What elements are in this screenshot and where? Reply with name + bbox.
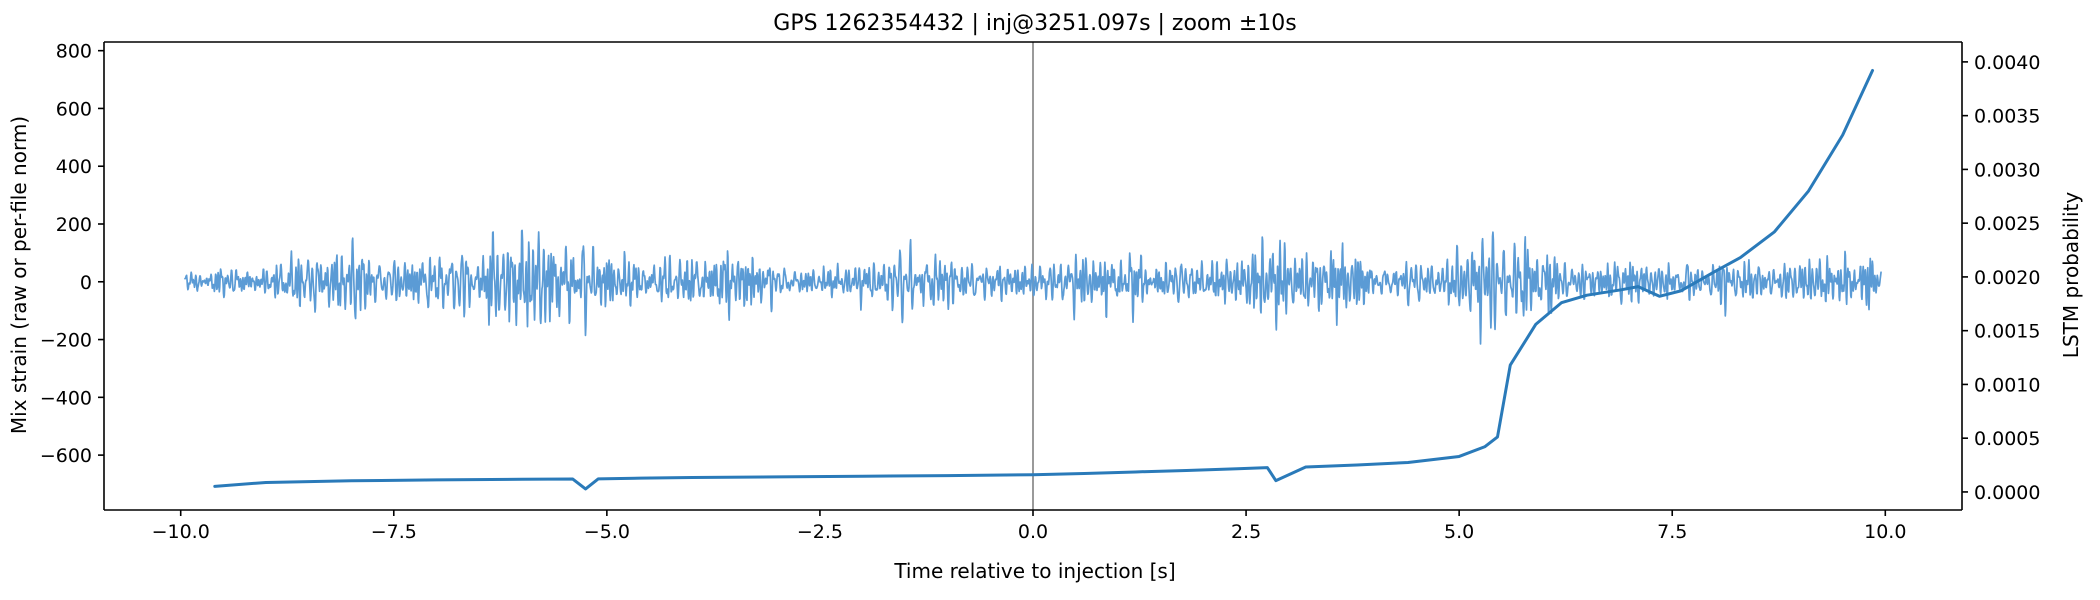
y-tick-label: 0 (80, 272, 92, 294)
figure-title: GPS 1262354432 | inj@3251.097s | zoom ±1… (773, 11, 1296, 36)
x-axis-label: Time relative to injection [s] (893, 559, 1175, 583)
x-tick-label: 2.5 (1231, 521, 1261, 543)
y-axis-right-ticks: 0.00400.00350.00300.00250.00200.00150.00… (1962, 52, 2040, 504)
y-tick-label: −200 (40, 330, 92, 352)
y2-tick-label: 0.0010 (1974, 374, 2040, 396)
y2-tick-label: 0.0015 (1974, 321, 2040, 343)
y2-tick-label: 0.0030 (1974, 159, 2040, 181)
y-tick-label: 600 (56, 98, 92, 120)
plot-canvas: GPS 1262354432 | inj@3251.097s | zoom ±1… (0, 0, 2100, 600)
y-tick-label: 200 (56, 214, 92, 236)
y-tick-label: 800 (56, 41, 92, 63)
x-tick-label: −5.0 (584, 521, 630, 543)
y2-tick-label: 0.0025 (1974, 213, 2040, 235)
y2-tick-label: 0.0005 (1974, 428, 2040, 450)
y-axis-right-label: LSTM probability (2059, 192, 2083, 359)
x-tick-label: −2.5 (797, 521, 843, 543)
x-tick-label: 0.0 (1018, 521, 1048, 543)
x-tick-label: 10.0 (1864, 521, 1906, 543)
x-tick-label: 5.0 (1444, 521, 1474, 543)
y-tick-label: −600 (40, 445, 92, 467)
y-axis-left-ticks: 8006004002000−200−400−600 (40, 41, 104, 467)
y2-tick-label: 0.0035 (1974, 106, 2040, 128)
x-tick-label: −10.0 (152, 521, 210, 543)
y-tick-label: 400 (56, 156, 92, 178)
y-axis-left-label: Mix strain (raw or per-file norm) (7, 116, 31, 434)
x-tick-label: 7.5 (1657, 521, 1687, 543)
matplotlib-figure: GPS 1262354432 | inj@3251.097s | zoom ±1… (0, 0, 2100, 600)
y-tick-label: −400 (40, 387, 92, 409)
y2-tick-label: 0.0040 (1974, 52, 2040, 74)
y2-tick-label: 0.0020 (1974, 267, 2040, 289)
y2-tick-label: 0.0000 (1974, 482, 2040, 504)
x-tick-label: −7.5 (371, 521, 417, 543)
x-axis-ticks: −10.0−7.5−5.0−2.50.02.55.07.510.0 (152, 510, 1907, 543)
